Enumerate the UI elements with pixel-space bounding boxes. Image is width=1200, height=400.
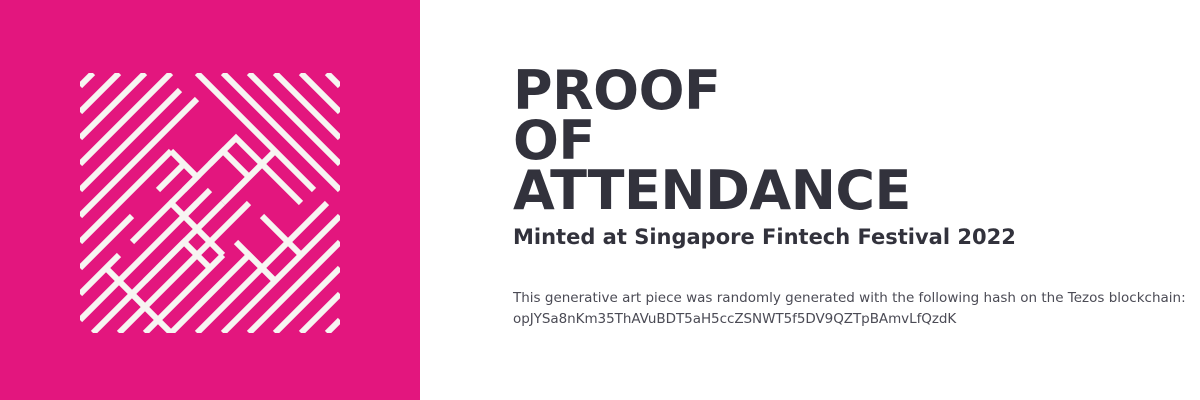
proof-of-attendance-certificate: PROOF OF ATTENDANCE Minted at Singapore …: [0, 0, 1200, 400]
event-subtitle: Minted at Singapore Fintech Festival 202…: [513, 224, 1016, 250]
description-text: This generative art piece was randomly g…: [513, 288, 1153, 309]
description-block: This generative art piece was randomly g…: [513, 288, 1153, 330]
art-panel: [0, 0, 420, 400]
transaction-hash: opJYSa8nKm35ThAVuBDT5aH5ccZSNWT5f5DV9QZT…: [513, 309, 1153, 330]
page-title: PROOF OF ATTENDANCE: [513, 66, 911, 216]
generative-art-image: [80, 73, 340, 333]
title-line-3: ATTENDANCE: [513, 166, 911, 216]
text-panel: PROOF OF ATTENDANCE Minted at Singapore …: [420, 0, 1200, 400]
